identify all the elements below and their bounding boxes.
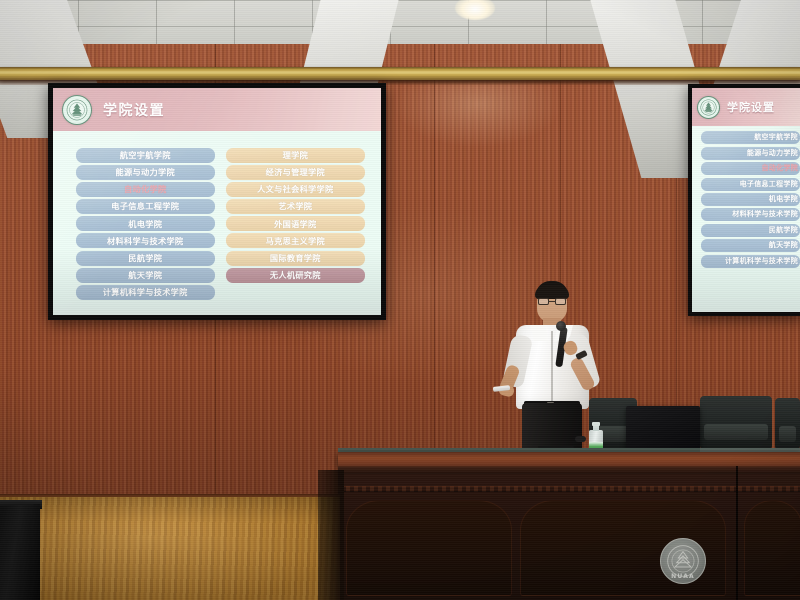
floor-loudspeaker	[0, 504, 40, 600]
slide-pill[interactable]: 计算机科学与技术学院	[76, 285, 215, 300]
computer-mouse[interactable]	[575, 436, 586, 442]
slide-body: 航空宇航学院 能源与动力学院 自动化学院 电子信息工程学院 机电学院 材料科学与…	[53, 131, 381, 315]
slide-left-column: 航空宇航学院 能源与动力学院 自动化学院 电子信息工程学院 机电学院 材料科学与…	[701, 131, 800, 307]
presenter-hair-front	[535, 285, 569, 299]
slide-pill[interactable]: 机电学院	[76, 216, 215, 231]
lecture-hall-photo: 学院设置 航空宇航学院 能源与动力学院 自动化学院 电子信息工程学院 机电学院 …	[0, 0, 800, 600]
slide-pill[interactable]: 无人机研究院	[226, 268, 365, 283]
slide-pill[interactable]: 能源与动力学院	[76, 165, 215, 180]
slide-pill[interactable]: 外国语学院	[226, 216, 365, 231]
slide-pill[interactable]: 电子信息工程学院	[76, 199, 215, 214]
slide-main: 学院设置 航空宇航学院 能源与动力学院 自动化学院 电子信息工程学院 机电学院 …	[53, 88, 381, 315]
podium-seam	[736, 466, 738, 600]
floor-shadow-right	[318, 470, 344, 600]
slide-pill[interactable]: 航空宇航学院	[701, 131, 800, 144]
slide-pill[interactable]: 机电学院	[701, 193, 800, 206]
slide-header: 学院设置	[692, 88, 800, 126]
slide-pill[interactable]: 艺术学院	[226, 199, 365, 214]
slide-body: 航空宇航学院 能源与动力学院 自动化学院 电子信息工程学院 机电学院 材料科学与…	[692, 126, 800, 312]
slide-pill-highlighted[interactable]: 自动化学院	[701, 162, 800, 175]
university-seal-icon	[62, 95, 92, 125]
slide-pill[interactable]: 计算机科学与技术学院	[701, 255, 800, 268]
floor-light-pool	[0, 497, 340, 600]
shirt-placket	[551, 331, 553, 407]
slide-title: 学院设置	[103, 100, 165, 120]
podium-seal-text: NUAA	[661, 573, 705, 580]
slide-pill[interactable]: 民航学院	[701, 224, 800, 237]
slide-pill[interactable]: 能源与动力学院	[701, 147, 800, 160]
slide-pill[interactable]: 航天学院	[76, 268, 215, 283]
stage-floor	[0, 497, 340, 600]
slide-pill[interactable]: 理学院	[226, 148, 365, 163]
university-seal-icon	[697, 96, 720, 119]
podium-panel	[744, 500, 800, 596]
podium-edge	[338, 466, 800, 474]
conference-chair	[700, 396, 772, 450]
slide-pill[interactable]: 马克思主义学院	[226, 233, 365, 248]
slide-pill[interactable]: 民航学院	[76, 251, 215, 266]
slide-pill[interactable]: 航天学院	[701, 239, 800, 252]
glasses-icon	[538, 298, 566, 305]
brass-wall-rail	[0, 67, 800, 80]
side-projection-screen[interactable]: 学院设置 航空宇航学院 能源与动力学院 自动化学院 电子信息工程学院 机电学院 …	[688, 84, 800, 316]
podium-moulding	[338, 486, 800, 492]
conference-chair	[775, 398, 800, 450]
slide-pill[interactable]: 航空宇航学院	[76, 148, 215, 163]
slide-right-column: 理学院 经济与管理学院 人文与社会科学学院 艺术学院 外国语学院 马克思主义学院…	[226, 148, 365, 302]
slide-pill-highlighted[interactable]: 自动化学院	[76, 182, 215, 197]
slide-pill[interactable]: 经济与管理学院	[226, 165, 365, 180]
slide-header: 学院设置	[53, 88, 381, 131]
slide-pill[interactable]: 材料科学与技术学院	[701, 208, 800, 221]
slide-pill[interactable]: 电子信息工程学院	[701, 178, 800, 191]
microphone-head	[556, 321, 566, 331]
bottle-cap	[592, 422, 600, 426]
slide-pill[interactable]: 国际教育学院	[226, 251, 365, 266]
podium-panel	[346, 500, 512, 596]
main-projection-screen[interactable]: 学院设置 航空宇航学院 能源与动力学院 自动化学院 电子信息工程学院 机电学院 …	[48, 83, 386, 320]
slide-left-column: 航空宇航学院 能源与动力学院 自动化学院 电子信息工程学院 机电学院 材料科学与…	[76, 148, 215, 302]
podium-university-seal-icon: NUAA	[660, 538, 706, 584]
slide-pill[interactable]: 人文与社会科学学院	[226, 182, 365, 197]
wall-panel-seam	[434, 44, 435, 500]
slide-side: 学院设置 航空宇航学院 能源与动力学院 自动化学院 电子信息工程学院 机电学院 …	[692, 88, 800, 312]
slide-title: 学院设置	[727, 99, 775, 115]
slide-pill[interactable]: 材料科学与技术学院	[76, 233, 215, 248]
